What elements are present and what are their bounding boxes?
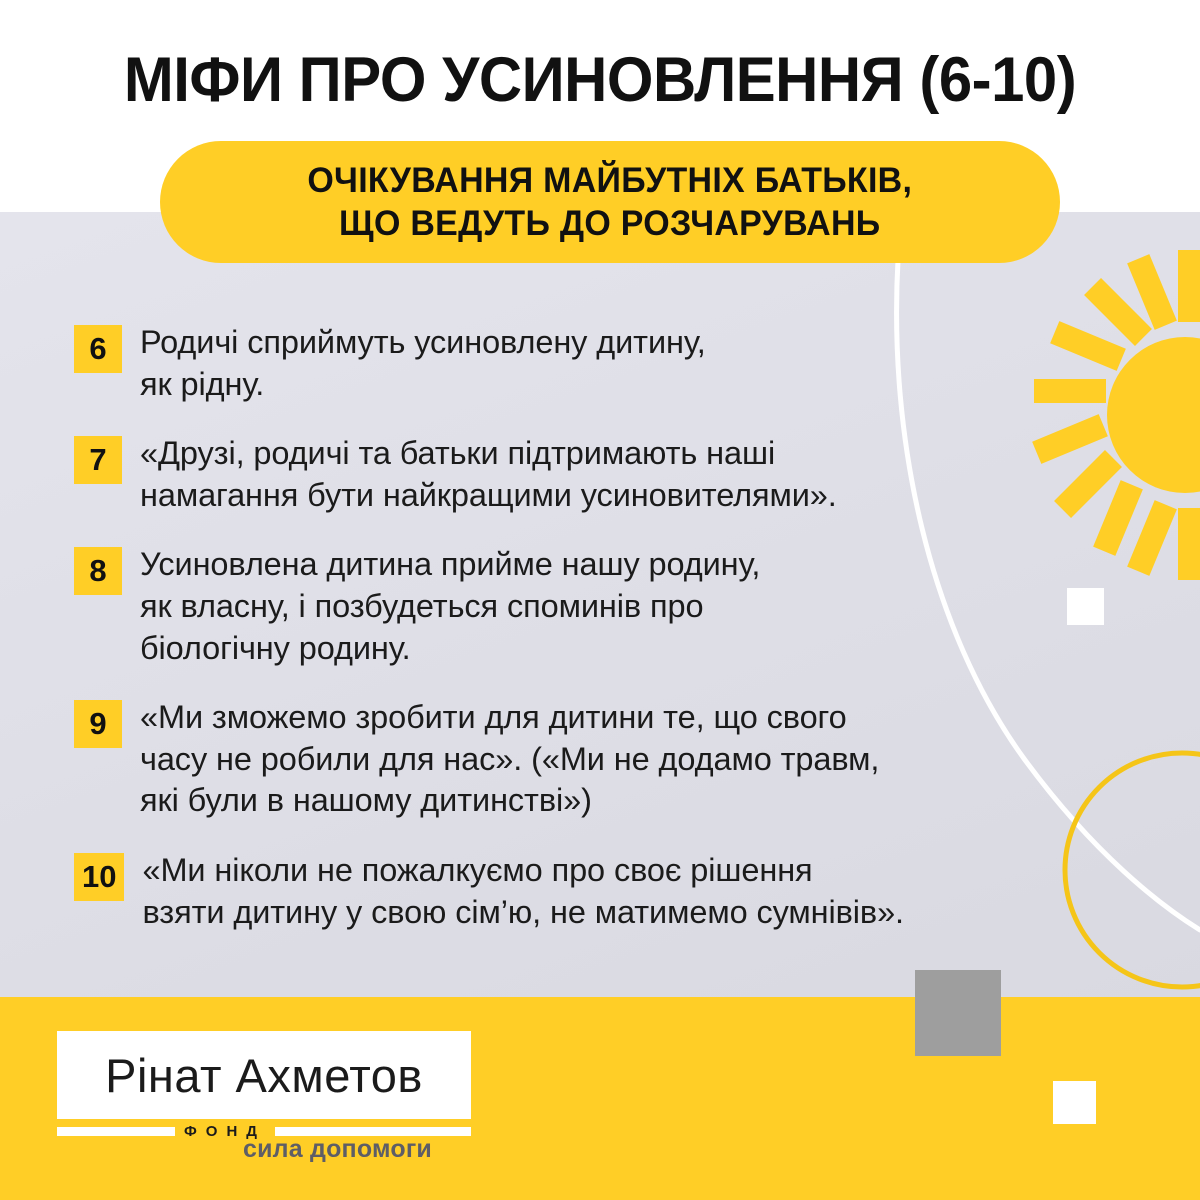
myth-number-badge: 10 <box>74 853 124 901</box>
myth-text: «Ми зможемо зробити для дитини те, що св… <box>140 697 879 822</box>
poster-root: МІФИ ПРО УСИНОВЛЕННЯ (6-10) ОЧІКУВАННЯ М… <box>0 0 1200 1200</box>
subtitle-line-1: ОЧІКУВАННЯ МАЙБУТНІХ БАТЬКІВ, <box>308 159 913 202</box>
subtitle-line-2: ЩО ВЕДУТЬ ДО РОЗЧАРУВАНЬ <box>308 202 913 245</box>
myth-number-badge: 6 <box>74 325 122 373</box>
list-item: 8 Усиновлена дитина прийме нашу родину, … <box>74 544 1084 669</box>
subtitle-banner-text: ОЧІКУВАННЯ МАЙБУТНІХ БАТЬКІВ, ЩО ВЕДУТЬ … <box>308 159 913 246</box>
logo-name-inner: Рінат Ахметов <box>66 1040 462 1110</box>
page-title: МІФИ ПРО УСИНОВЛЕННЯ (6-10) <box>30 44 1170 116</box>
list-item: 10 «Ми ніколи не пожалкуємо про своє ріш… <box>74 850 1084 933</box>
foundation-logo: Рінат Ахметов ФОНД <box>57 1031 471 1140</box>
myth-list: 6 Родичі сприймуть усиновлену дитину, як… <box>74 322 1084 961</box>
myth-text: Родичі сприймуть усиновлену дитину, як р… <box>140 322 706 405</box>
gray-square-accent <box>915 970 1001 1056</box>
subtitle-banner: ОЧІКУВАННЯ МАЙБУТНІХ БАТЬКІВ, ЩО ВЕДУТЬ … <box>160 141 1060 263</box>
logo-rule-left <box>57 1127 175 1136</box>
list-item: 6 Родичі сприймуть усиновлену дитину, як… <box>74 322 1084 405</box>
myth-text: «Друзі, родичі та батьки підтримають наш… <box>140 433 837 516</box>
myth-text: Усиновлена дитина прийме нашу родину, як… <box>140 544 760 669</box>
white-square-accent-lower <box>1053 1081 1096 1124</box>
list-item: 7 «Друзі, родичі та батьки підтримають н… <box>74 433 1084 516</box>
myth-number-badge: 9 <box>74 700 122 748</box>
list-item: 9 «Ми зможемо зробити для дитини те, що … <box>74 697 1084 822</box>
logo-name-box: Рінат Ахметов <box>57 1031 471 1119</box>
myth-number-badge: 8 <box>74 547 122 595</box>
logo-name-text: Рінат Ахметов <box>105 1048 423 1103</box>
myth-number-badge: 7 <box>74 436 122 484</box>
myth-text: «Ми ніколи не пожалкуємо про своє рішенн… <box>142 850 904 933</box>
footer-tagline: сила допомоги <box>243 1135 432 1164</box>
